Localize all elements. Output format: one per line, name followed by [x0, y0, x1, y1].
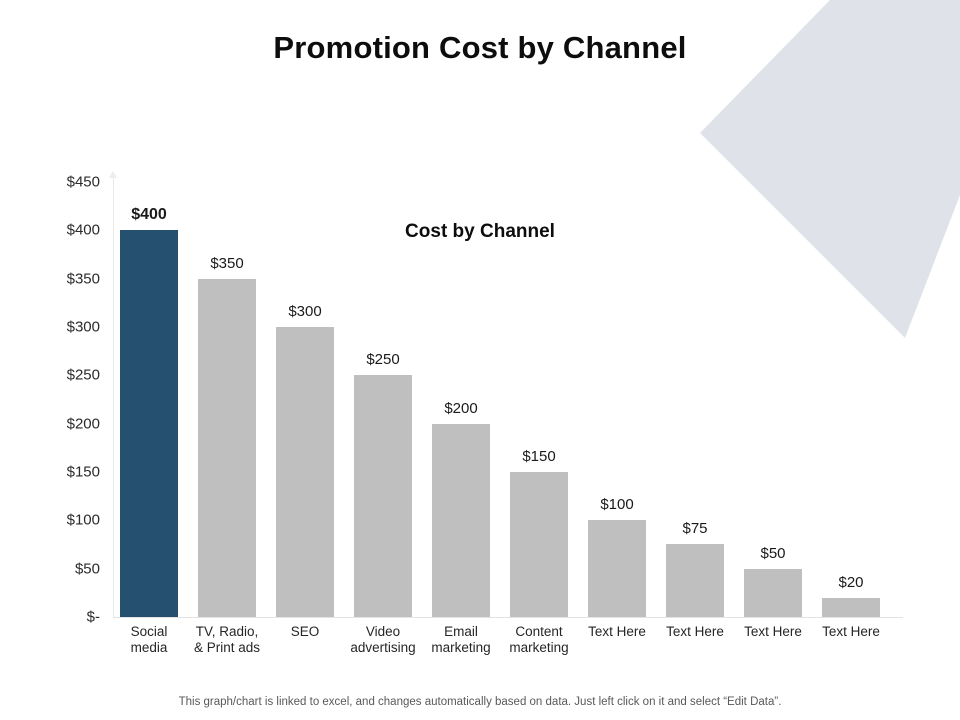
x-axis-category-label: Text Here: [734, 624, 812, 640]
bar-value-label: $250: [338, 351, 428, 368]
y-axis-tick-label: $-: [38, 609, 100, 626]
bar-value-label: $100: [572, 496, 662, 513]
y-axis-tick-label: $450: [38, 174, 100, 191]
y-axis-tick-label: $200: [38, 415, 100, 432]
bar[interactable]: [666, 544, 724, 617]
bar-value-label: $20: [806, 574, 896, 591]
x-axis-category-label: Emailmarketing: [422, 624, 500, 656]
y-axis-tick-label: $400: [38, 222, 100, 239]
category-label-line: marketing: [500, 640, 578, 656]
x-axis-category-label: Videoadvertising: [344, 624, 422, 656]
category-label-line: marketing: [422, 640, 500, 656]
category-label-line: Video: [344, 624, 422, 640]
bar[interactable]: [276, 327, 334, 617]
bar-value-label: $400: [104, 206, 194, 224]
y-axis-tick-label: $100: [38, 512, 100, 529]
x-axis-category-label: SEO: [266, 624, 344, 640]
bar[interactable]: [744, 569, 802, 617]
y-axis-tick-label: $50: [38, 560, 100, 577]
bar[interactable]: [354, 375, 412, 617]
footer-note: This graph/chart is linked to excel, and…: [0, 696, 960, 708]
bar[interactable]: [432, 424, 490, 617]
y-axis-line: [113, 177, 114, 618]
category-label-line: Social: [110, 624, 188, 640]
category-label-line: Content: [500, 624, 578, 640]
bar-value-label: $75: [650, 520, 740, 537]
bar[interactable]: [198, 279, 256, 617]
x-axis-category-label: Text Here: [578, 624, 656, 640]
x-axis-category-label: Text Here: [656, 624, 734, 640]
x-axis-category-label: Text Here: [812, 624, 890, 640]
y-axis-tick-label: $250: [38, 367, 100, 384]
y-axis-tick-label: $350: [38, 270, 100, 287]
category-label-line: Text Here: [656, 624, 734, 640]
x-axis-category-label: Contentmarketing: [500, 624, 578, 656]
x-axis-baseline: [113, 617, 903, 618]
bar[interactable]: [822, 598, 880, 617]
category-label-line: Text Here: [578, 624, 656, 640]
bar-value-label: $200: [416, 400, 506, 417]
category-label-line: TV, Radio,: [188, 624, 266, 640]
category-label-line: Text Here: [812, 624, 890, 640]
category-label-line: media: [110, 640, 188, 656]
y-axis-tick-label: $300: [38, 319, 100, 336]
category-label-line: Text Here: [734, 624, 812, 640]
bar-value-label: $50: [728, 545, 818, 562]
bar-chart[interactable]: Cost by Channel $450$400$350$300$250$200…: [0, 0, 960, 720]
x-axis-category-label: Socialmedia: [110, 624, 188, 656]
category-label-line: SEO: [266, 624, 344, 640]
category-label-line: advertising: [344, 640, 422, 656]
chart-title: Cost by Channel: [300, 221, 660, 243]
bar[interactable]: [120, 230, 178, 617]
x-axis-category-label: TV, Radio,& Print ads: [188, 624, 266, 656]
category-label-line: & Print ads: [188, 640, 266, 656]
y-axis-tick-label: $150: [38, 464, 100, 481]
bar-value-label: $350: [182, 255, 272, 272]
category-label-line: Email: [422, 624, 500, 640]
bar-value-label: $150: [494, 448, 584, 465]
y-axis-arrow-icon: [109, 171, 117, 178]
bar[interactable]: [588, 520, 646, 617]
bar-value-label: $300: [260, 303, 350, 320]
bar[interactable]: [510, 472, 568, 617]
